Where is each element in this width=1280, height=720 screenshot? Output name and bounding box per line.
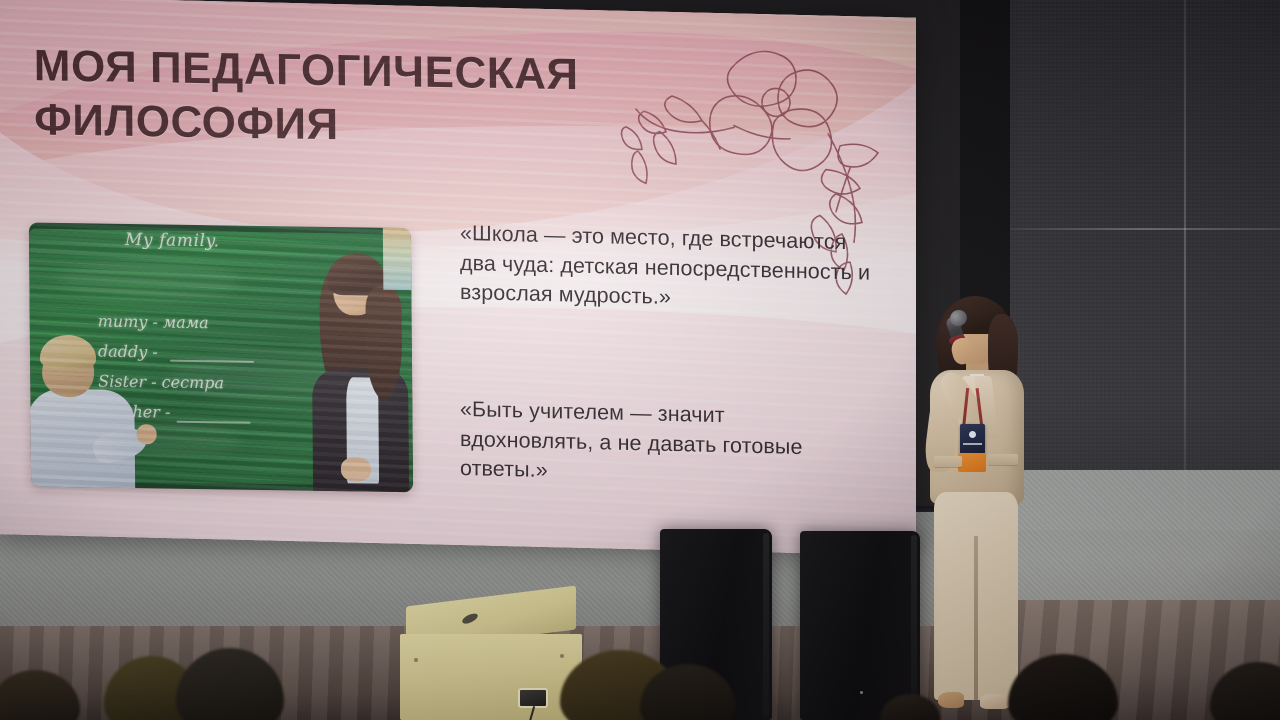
floor-monitor-speaker	[400, 596, 582, 720]
speaker-led-icon	[860, 691, 863, 694]
presenter-pocket-left	[934, 456, 962, 467]
presenter-badge-orange-label	[958, 453, 986, 472]
photo-edge-strip	[383, 228, 412, 290]
presenter-shoe-right	[980, 694, 1010, 709]
presenter-badge-photo	[969, 431, 976, 438]
photo-boy-hand	[137, 424, 157, 444]
monitor-front-face	[400, 634, 582, 720]
speaker-edge	[911, 535, 917, 716]
chalkboard-heading: My family.	[125, 230, 220, 251]
presenter-shoe-left	[938, 692, 964, 708]
slide-quote-2: «Быть учителем — значит вдохновлять, а н…	[460, 395, 860, 493]
panel-seam-horizontal	[1010, 228, 1280, 230]
photo-teacher-hair-tail	[365, 285, 402, 400]
monitor-grille-mark	[461, 612, 479, 626]
presenter-badge-text-line	[963, 443, 982, 445]
panel-seam-vertical	[1184, 0, 1186, 530]
presenter-leg-seam	[974, 536, 978, 700]
presenter-pocket-right	[988, 454, 1018, 465]
slide-title-line-2: ФИЛОСОФИЯ	[34, 93, 694, 158]
acoustic-wall-panel	[1010, 0, 1280, 530]
slide-quote-1: «Школа — это место, где встречаются два …	[460, 219, 880, 318]
slide-photo-classroom: My family. mumy - мама daddy - Sister - …	[29, 222, 413, 492]
speaker-edge	[763, 533, 769, 716]
presenter	[908, 296, 1038, 720]
chalkboard-line-1: mumy - мама	[98, 312, 209, 333]
presenter-badge-card	[960, 424, 985, 454]
projection-screen: МОЯ ПЕДАГОГИЧЕСКАЯ ФИЛОСОФИЯ	[0, 0, 916, 556]
chalkboard-line-3: Sister - сестра	[98, 372, 224, 393]
chalkboard-line-2: daddy -	[98, 342, 158, 362]
photo-teacher-hands	[341, 457, 371, 481]
stage-scene: МОЯ ПЕДАГОГИЧЕСКАЯ ФИЛОСОФИЯ	[0, 0, 1280, 720]
pa-speaker-right	[800, 531, 920, 720]
slide-title: МОЯ ПЕДАГОГИЧЕСКАЯ ФИЛОСОФИЯ	[34, 39, 695, 157]
